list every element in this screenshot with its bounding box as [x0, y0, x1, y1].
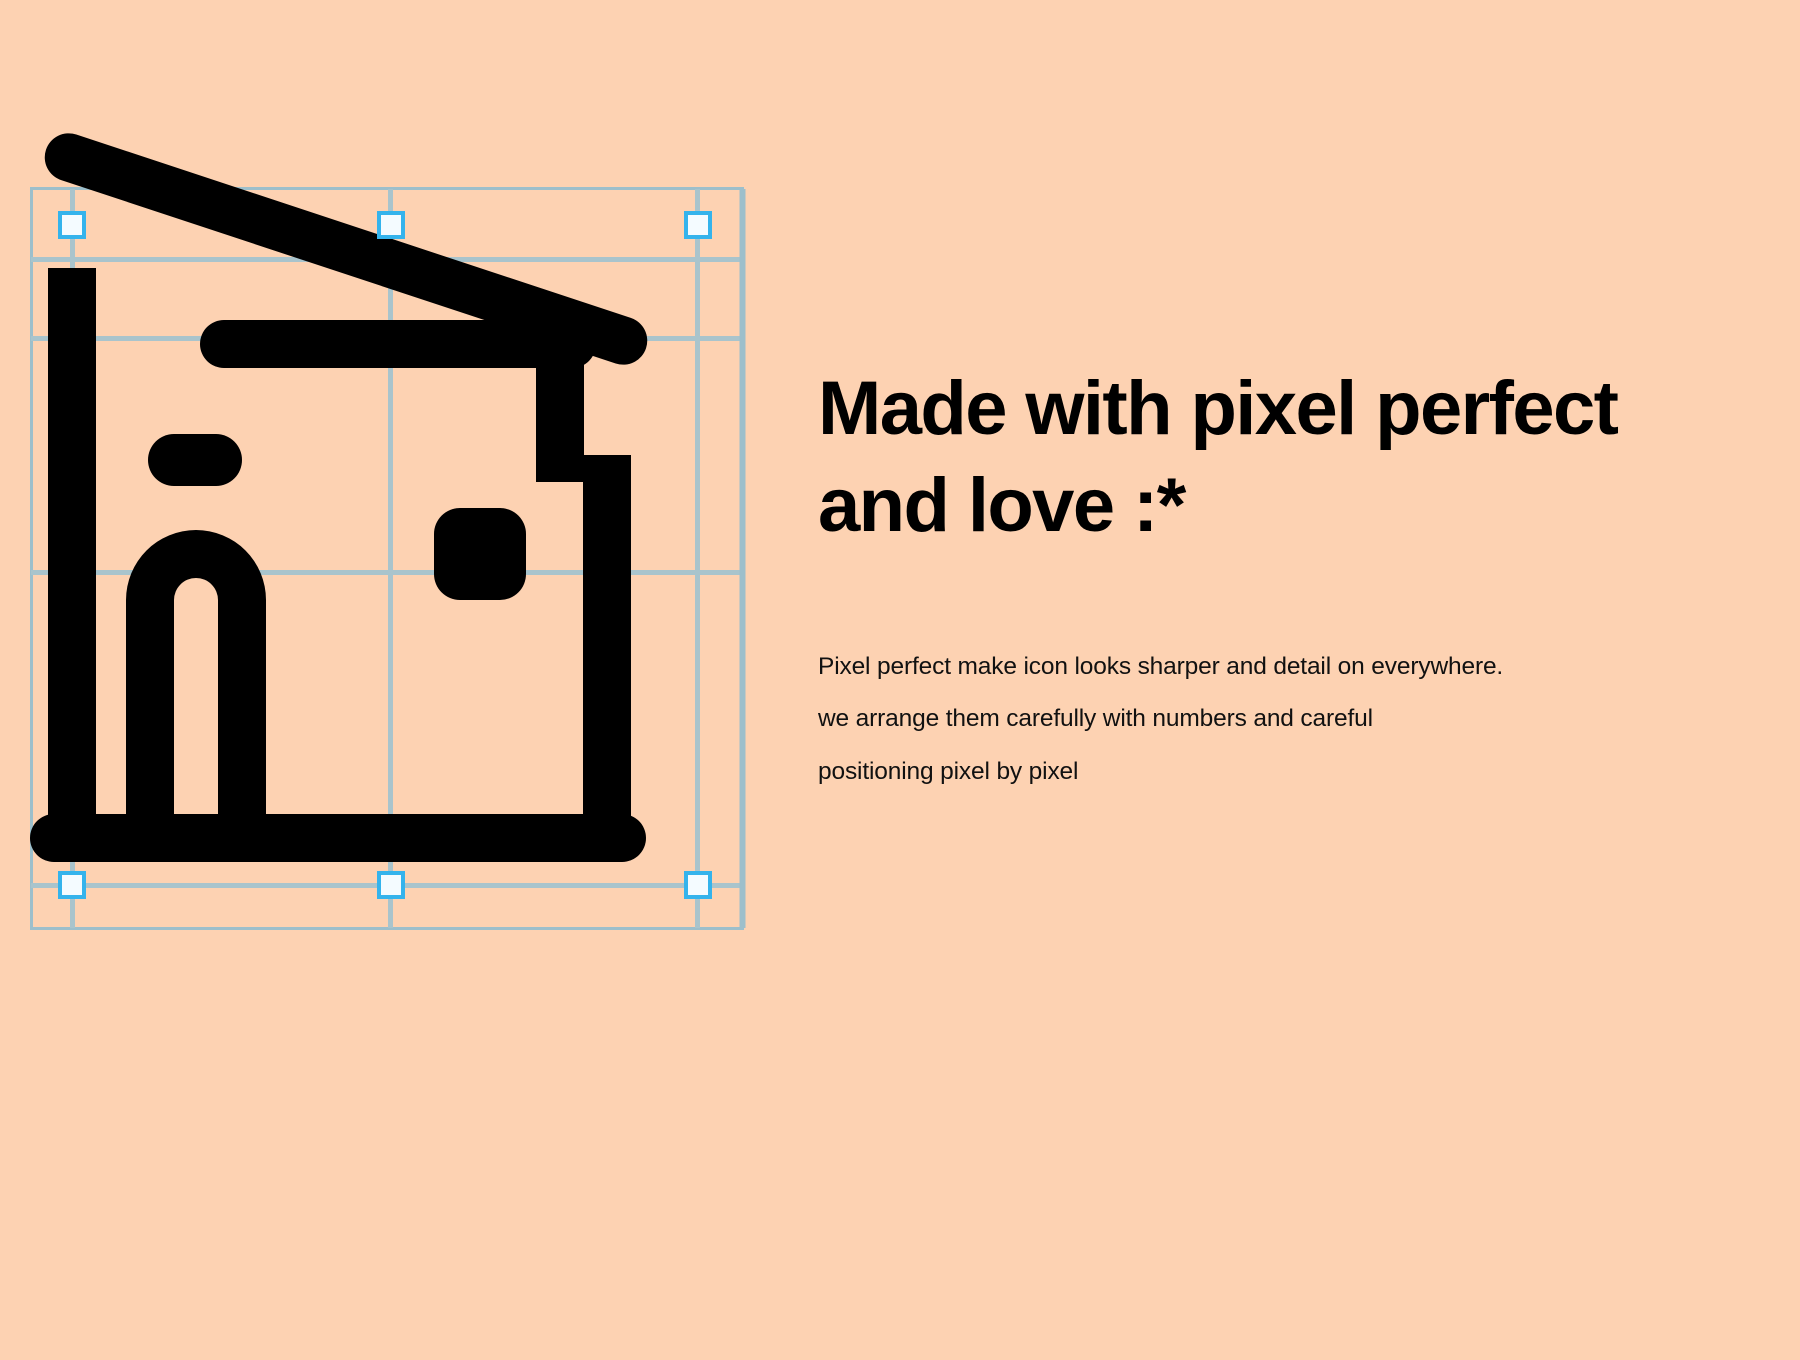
house-base-bar [30, 814, 646, 862]
headline: Made with pixel perfect and love :* [818, 360, 1748, 555]
handle-bottom-left[interactable] [60, 873, 84, 897]
slide-canvas: Made with pixel perfect and love :* Pixe… [0, 0, 1800, 1360]
house-left-wall [48, 268, 96, 824]
copy-block: Made with pixel perfect and love :* Pixe… [818, 360, 1748, 799]
house-right-wall [583, 455, 631, 824]
handle-top-center[interactable] [379, 213, 403, 237]
house-door-arch [126, 530, 266, 824]
handle-bottom-center[interactable] [379, 873, 403, 897]
handle-top-right[interactable] [686, 213, 710, 237]
icon-design-artboard[interactable] [0, 0, 800, 1000]
house-balcony-post [536, 352, 584, 482]
modern-house-icon[interactable] [30, 127, 654, 862]
handle-top-left[interactable] [60, 213, 84, 237]
house-window-pill [148, 434, 242, 486]
body-paragraph: Pixel perfect make icon looks sharper an… [818, 555, 1748, 799]
house-window-square [434, 508, 526, 600]
handle-bottom-right[interactable] [686, 873, 710, 897]
